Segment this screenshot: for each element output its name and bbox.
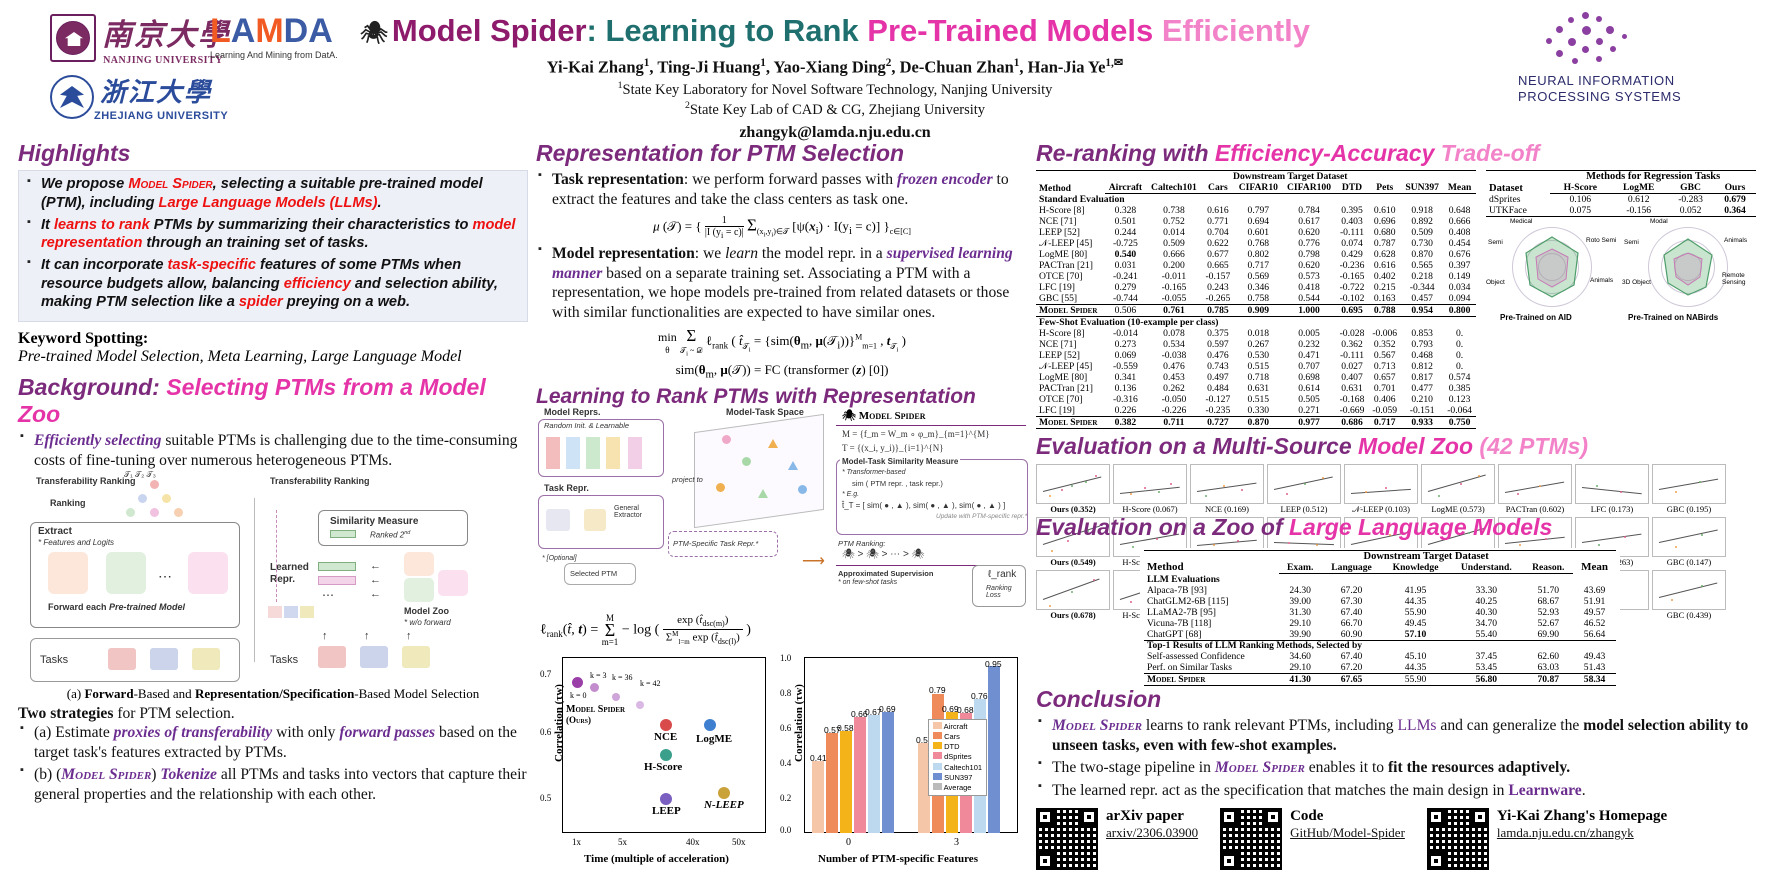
cell: 0.648 <box>1443 205 1476 216</box>
cell: 0.385 <box>1443 383 1476 394</box>
hl-1-a: We propose <box>41 176 128 192</box>
cell: 0.752 <box>1146 216 1201 227</box>
cell: 0.123 <box>1443 394 1476 405</box>
poster-header: 南京大學 NANJING UNIVERSITY LAMDA Learning A… <box>0 0 1780 140</box>
cell: 0.597 <box>1202 339 1235 350</box>
radar2-axis-remote: Remote Sensing <box>1722 273 1752 286</box>
cell: 31.30 <box>1279 607 1321 618</box>
qr-arxiv[interactable]: arXiv paper arxiv/2306.03900 <box>1036 808 1198 870</box>
cell-method: OTCE [70] <box>1036 394 1105 405</box>
cell: 44.35 <box>1382 662 1449 674</box>
cell: 0.601 <box>1234 227 1282 238</box>
table-llm-eval: Method Downstream Target Dataset Mean Ex… <box>1144 550 1616 686</box>
col-cifar100: CIFAR100 <box>1282 182 1335 194</box>
title-part-2: Learning to Rank <box>605 13 867 48</box>
cell: 0.743 <box>1202 361 1235 372</box>
cell: 0.680 <box>1368 227 1401 238</box>
arxiv-url[interactable]: arxiv/2306.03900 <box>1106 825 1198 841</box>
cell: 0.870 <box>1234 417 1282 429</box>
cell: 51.70 <box>1523 585 1573 596</box>
bars-ytick-4: 0.8 <box>780 688 791 698</box>
cell-mean: 51.91 <box>1573 596 1616 607</box>
cell: 0.620 <box>1282 260 1335 271</box>
col-knowledge: Knowledge <box>1382 562 1449 574</box>
cell: 0.776 <box>1282 238 1335 249</box>
fig-modelzoo-label: Model Zoo <box>404 606 449 616</box>
legend-label-sun397: SUN397 <box>944 773 972 782</box>
cell: 0.052 <box>1667 205 1714 217</box>
cell: 0.698 <box>1282 372 1335 383</box>
cell: 0.785 <box>1202 305 1235 317</box>
cell: 0.788 <box>1368 305 1401 317</box>
model-repr-head: Model representation <box>552 245 695 262</box>
table-row: LEEP [52]0.069-0.0380.4760.5300.471-0.11… <box>1036 350 1476 361</box>
cell: 63.03 <box>1523 662 1573 674</box>
list-item: Task representation: we perform forward … <box>536 170 1028 209</box>
cell: 0.346 <box>1234 282 1282 293</box>
cell-method: OTCE [70] <box>1036 271 1105 282</box>
section-highlights-heading: Highlights <box>18 140 528 166</box>
cell: 0.567 <box>1368 350 1401 361</box>
radar-axis-animals: Animals <box>1590 277 1613 284</box>
cell: 0.074 <box>1336 238 1369 249</box>
cell: 0.761 <box>1146 305 1201 317</box>
spider-icon: 🕷 <box>360 20 388 45</box>
formula-sim-fc: sim(θm, μ(𝒯)) = FC (transformer (z) [0]) <box>536 362 1028 381</box>
cell: 0.069 <box>1105 350 1147 361</box>
cell: 0.530 <box>1234 350 1282 361</box>
arxiv-qr-icon[interactable] <box>1036 808 1098 870</box>
scatter-ylabel: Correlation (τw) <box>553 684 565 762</box>
cell: 0.701 <box>1368 383 1401 394</box>
fig-right-title: Transferability Ranking <box>270 476 370 486</box>
cell-method: 𝒩-LEEP [45] <box>1036 238 1105 249</box>
cell: 0.362 <box>1336 339 1369 350</box>
cell-method: Model Spider <box>1036 417 1105 429</box>
lamda-tagline: Learning And Mining from DatA. <box>210 50 338 60</box>
col-exam: Exam. <box>1279 562 1321 574</box>
table-row: LFC [19]0.279-0.1650.2430.3460.418-0.722… <box>1036 282 1476 293</box>
cell: 0.352 <box>1368 339 1401 350</box>
multisource-scatter-matrix: Ours (0.352) H-Score (0.067) NCE (0.169)… <box>1036 464 1756 640</box>
task-repr-head: Task representation <box>552 171 684 188</box>
two-strategies-head: Two strategies <box>18 705 113 722</box>
neurips-dots-icon <box>1538 12 1634 70</box>
cell: 0.711 <box>1146 417 1201 429</box>
qr-homepage[interactable]: Yi-Kai Zhang's Homepage lamda.nju.edu.cn… <box>1427 808 1667 870</box>
homepage-url[interactable]: lamda.nju.edu.cn/zhangyk <box>1497 825 1667 841</box>
figure-caption-a: (a) Forward-Based and Representation/Spe… <box>18 686 528 702</box>
legend-item: Average <box>933 783 982 793</box>
table-row: ChatGPT [68]39.9060.9057.1055.4069.9056.… <box>1144 629 1616 641</box>
brand-text: Model Spider <box>859 410 926 422</box>
cell: 0.617 <box>1282 216 1335 227</box>
cell: 67.40 <box>1321 607 1382 618</box>
formula-task-representation: μ (𝒯) = { 1 |I (yi = c)| Σ(xi,yi)∈𝒯 [ψ(x… <box>536 215 1028 240</box>
cell: 0.631 <box>1336 383 1369 394</box>
cell: -0.059 <box>1368 405 1401 417</box>
table-row-best: Model Spider41.3067.6555.9056.8070.8758.… <box>1144 673 1616 685</box>
affiliation-1-text: State Key Laboratory for Novel Software … <box>623 81 1053 97</box>
approx-sub-label: * on few-shot tasks <box>838 579 897 586</box>
fig-extract-label: Extract <box>38 526 72 537</box>
col-pets: Pets <box>1368 182 1401 194</box>
cell-method: ChatGPT [68] <box>1144 629 1279 641</box>
section-multisource-heading: Evaluation on a Multi-Source Model Zoo (… <box>1036 433 1766 459</box>
cell: 0.614 <box>1282 383 1335 394</box>
cell: 44.35 <box>1382 596 1449 607</box>
cell: 0.509 <box>1401 227 1443 238</box>
cell: 0.402 <box>1368 271 1401 282</box>
cell: -0.064 <box>1443 405 1476 417</box>
cell: 0.622 <box>1202 238 1235 249</box>
cell: 0. <box>1443 339 1476 350</box>
nju-seal-icon <box>50 14 96 62</box>
qr-code[interactable]: Code GitHub/Model-Spider <box>1220 808 1405 870</box>
list-item: (b) (Model Spider) Tokenize all PTMs and… <box>18 765 528 804</box>
fig-ranked-label: Ranked 2nd <box>370 530 410 540</box>
cell: 0.738 <box>1146 205 1201 216</box>
general-extractor-label: General Extractor <box>614 505 660 520</box>
code-url[interactable]: GitHub/Model-Spider <box>1290 825 1405 841</box>
t-definition: T = {(x_i, y_i)}_{i=1}^{N} <box>842 443 944 453</box>
big-arrow-icon: ⟶ <box>802 551 825 571</box>
cell: 0.163 <box>1368 293 1401 305</box>
list-item: It can incorporate task-specific feature… <box>25 256 521 312</box>
cell-mean: 56.64 <box>1573 629 1616 641</box>
k-label-0: k = 0 <box>570 691 587 700</box>
list-item: The two-stage pipeline in Model Spider e… <box>1036 758 1756 777</box>
cell: 0.397 <box>1443 260 1476 271</box>
section-llm-heading: Evaluation on a Zoo of Large Language Mo… <box>1036 514 1766 540</box>
cell: 0.771 <box>1202 216 1235 227</box>
cell: 0.429 <box>1336 249 1369 260</box>
cell: 0.226 <box>1105 405 1147 417</box>
cell: 0.730 <box>1401 238 1443 249</box>
lrank-symbol: ℓ_rank <box>988 569 1016 580</box>
scatter-cap-gbc-3: GBC (0.439) <box>1652 610 1726 620</box>
representation-bullets-1: Task representation: we perform forward … <box>536 170 1028 209</box>
m-definition: M = {f_m = W_m ∘ φ_m}_{m=1}^{M} <box>842 429 990 440</box>
cell: 0.892 <box>1401 216 1443 227</box>
cell: 0.713 <box>1368 361 1401 372</box>
cell: 0.457 <box>1401 293 1443 305</box>
cell: 0.018 <box>1234 328 1282 339</box>
cell: 55.40 <box>1449 629 1523 641</box>
cell: -0.168 <box>1336 394 1369 405</box>
radar-axis-semi: Semi <box>1488 239 1503 246</box>
fig-ellipsis-1: ⋯ <box>158 568 174 585</box>
fig-up-arrow-3: ↑ <box>406 630 412 642</box>
cell-dataset: dSprites <box>1486 194 1550 206</box>
radar-row: Medical Roto Semi Animals Object Semi Pr… <box>1486 223 1756 333</box>
cell-method: LLaMA2-7B [95] <box>1144 607 1279 618</box>
conclusion-list: Model Spider learns to rank relevant PTM… <box>1036 716 1756 800</box>
table-row: Standard Evaluation <box>1036 194 1476 206</box>
scatter-cap-lfc-1: LFC (0.173) <box>1575 504 1649 514</box>
legend-label-aircraft: Aircraft <box>944 722 968 731</box>
col-cifar10: CIFAR10 <box>1234 182 1282 194</box>
cell-method: LFC [19] <box>1036 405 1105 417</box>
cell: 0.918 <box>1401 205 1443 216</box>
cell: 0.620 <box>1282 227 1335 238</box>
rr-h2: Efficiency-Accuracy <box>1215 140 1441 166</box>
cell: 0.565 <box>1401 260 1443 271</box>
scatter-cap-hscore-1: H-Score (0.067) <box>1113 504 1187 514</box>
update-with-label: Update with PTM-specific repr.* <box>936 513 1027 520</box>
cell: -0.283 <box>1667 194 1714 206</box>
cell: 0.704 <box>1202 227 1235 238</box>
cell: 0.244 <box>1105 227 1147 238</box>
table-row: 𝒩-LEEP [45]-0.5590.4760.7430.5150.7070.0… <box>1036 361 1476 372</box>
col-method: Method <box>1036 171 1105 194</box>
cell: 0.574 <box>1443 372 1476 383</box>
cell: 0.544 <box>1282 293 1335 305</box>
cell: 0.787 <box>1368 238 1401 249</box>
cell: 52.93 <box>1523 607 1573 618</box>
hl-2-c: PTMs by summarizing their characteristic… <box>150 217 473 233</box>
cell: -0.559 <box>1105 361 1147 372</box>
radar-chart-nabirds: Modal Animals Remote Sensing 3D Object S… <box>1622 223 1754 333</box>
llm-h2: Large Language Models <box>1289 514 1552 540</box>
fig-ellipsis-2: ⋯ <box>322 588 334 602</box>
cell: -0.014 <box>1105 328 1147 339</box>
legend-label-dsprites: dSprites <box>944 752 972 761</box>
list-item: (a) Estimate proxies of transferability … <box>18 723 528 762</box>
cell: 0.677 <box>1202 249 1235 260</box>
cell: 0.686 <box>1336 417 1369 429</box>
hl-3-d: efficiency <box>284 276 351 292</box>
cell: -0.157 <box>1202 271 1235 282</box>
col-cars: Cars <box>1202 182 1235 194</box>
section-ltr-heading: Learning to Rank PTMs with Representatio… <box>536 385 1028 409</box>
cell: 60.90 <box>1321 629 1382 641</box>
cell: 0.534 <box>1146 339 1201 350</box>
table-row: NCE [71]0.2730.5340.5970.2670.2320.3620.… <box>1036 339 1476 350</box>
cell: 0.279 <box>1105 282 1147 293</box>
homepage-qr-icon[interactable] <box>1427 808 1489 870</box>
lamda-letter-m: M <box>255 12 283 50</box>
formula-rank-loss: ℓrank(t̂, t) = M Σ m=1 − log ( exp (t̂ds… <box>540 613 1028 647</box>
column-right: Re-ranking with Efficiency-Accuracy Trad… <box>1036 140 1766 870</box>
cell: 55.90 <box>1382 607 1449 618</box>
section-background-heading: Background: Selecting PTMs from a Model … <box>18 374 528 427</box>
ms-h1: Evaluation on a Multi-Source <box>1036 433 1358 459</box>
highlights-box: We propose Model Spider, selecting a sui… <box>18 170 528 322</box>
affiliation-2-text: State Key Lab of CAD & CG, Zhejiang Univ… <box>690 102 985 118</box>
title-part-4: Efficiently <box>1162 13 1310 48</box>
cell-method: Vicuna-7B [118] <box>1144 618 1279 629</box>
bars-xtick-0: 0 <box>846 837 851 848</box>
rr-h1: Re-ranking with <box>1036 140 1215 166</box>
cell: 0.328 <box>1105 205 1147 216</box>
hl-1-e: . <box>377 195 381 211</box>
scatter-cap-logme-1: LogME (0.573) <box>1421 504 1495 514</box>
cell: -0.725 <box>1105 238 1147 249</box>
bars-xtick-1: 3 <box>954 837 959 848</box>
qr-links-row: arXiv paper arxiv/2306.03900 Code GitHub… <box>1036 808 1766 870</box>
cell: 0.870 <box>1401 249 1443 260</box>
scatter-cap-ours-2: Ours (0.549) <box>1036 557 1110 567</box>
legend-label-cars: Cars <box>944 732 960 741</box>
hl-3-b: task-specific <box>168 257 256 273</box>
charts-row: Correlation (τw) 0.7 0.6 0.5 1x 5x 40x 5… <box>536 653 1028 887</box>
cell-mean: 58.34 <box>1573 673 1616 685</box>
optional-label: * [Optional] <box>542 555 577 562</box>
cell: 0.364 <box>1714 205 1756 217</box>
cell: 0.657 <box>1368 372 1401 383</box>
cell: 0.793 <box>1401 339 1443 350</box>
table-row: H-Score [8]0.3280.7380.6160.7970.7840.39… <box>1036 205 1476 216</box>
table-row: OTCE [70]-0.241-0.011-0.1570.5690.573-0.… <box>1036 271 1476 282</box>
figure-pipeline: Model Reprs. Random Init. & Learnable Ta… <box>536 413 1028 611</box>
table-row: PACTran [21]0.0310.2000.6650.7170.620-0.… <box>1036 260 1476 271</box>
table-llm-wrapper: Method Downstream Target Dataset Mean Ex… <box>1140 548 1620 688</box>
two-strategies-line: Two strategies for PTM selection. <box>18 704 528 723</box>
col-caltech101: Caltech101 <box>1146 182 1201 194</box>
table-row: dSprites0.1060.612-0.2830.679 <box>1486 194 1756 206</box>
cell: 0.215 <box>1368 282 1401 293</box>
cell: 0.106 <box>1550 194 1610 206</box>
cell: 0.628 <box>1368 249 1401 260</box>
bar-label-3-3: 0.68 <box>957 705 974 715</box>
cell: 0.679 <box>1714 194 1756 206</box>
cell-mean: 49.57 <box>1573 607 1616 618</box>
cell-method: Alpaca-7B [93] <box>1144 585 1279 596</box>
radar-chart-aid: Medical Roto Semi Animals Object Semi Pr… <box>1486 223 1618 333</box>
figure-model-selection: Transferability Ranking Ranking 𝒯₁ 𝒯₂ 𝒯₃ <box>18 474 528 702</box>
fig-up-arrow-2: ↑ <box>364 630 370 642</box>
cell: 0.798 <box>1282 249 1335 260</box>
model-reprs-label: Model Reprs. <box>544 407 601 417</box>
representation-bullets-2: Model representation: we learn the model… <box>536 244 1028 322</box>
scatter-cell-gbc-3: GBC (0.439) <box>1652 570 1726 620</box>
cell-method: Self-assessed Confidence <box>1144 651 1279 662</box>
table-row: Dataset Methods for Regression Tasks <box>1486 171 1756 183</box>
cell: 0.454 <box>1443 238 1476 249</box>
lamda-wordmark: LAMDA <box>210 14 338 48</box>
code-qr-icon[interactable] <box>1220 808 1282 870</box>
keyword-spotting-body: Pre-trained Model Selection, Meta Learni… <box>18 348 528 366</box>
cell: 0.509 <box>1146 238 1201 249</box>
scatter-cell-pactran-1: PACTran (0.602) <box>1498 464 1572 515</box>
scatter-cap-ours-3: Ours (0.678) <box>1036 610 1110 620</box>
cell: 0.476 <box>1146 361 1201 372</box>
cell: 0.573 <box>1282 271 1335 282</box>
ptm-ranking-label: PTM Ranking: <box>838 539 886 548</box>
cell: -0.006 <box>1368 328 1401 339</box>
poster-root: 南京大學 NANJING UNIVERSITY LAMDA Learning A… <box>0 0 1780 890</box>
table-row: LFC [19]0.226-0.226-0.2350.3300.271-0.66… <box>1036 405 1476 417</box>
cell: 0.506 <box>1105 305 1147 317</box>
radar-axis-roto: Roto Semi <box>1586 237 1616 244</box>
table-row: H-Score [8]-0.0140.0780.3750.0180.005-0.… <box>1036 328 1476 339</box>
cell: 33.30 <box>1449 585 1523 596</box>
cell-method: GBC [55] <box>1036 293 1105 305</box>
col-ours: Ours <box>1714 182 1756 194</box>
col-reason: Reason. <box>1523 562 1573 574</box>
radar2-axis-semi: Semi <box>1624 239 1639 246</box>
cell: 0.497 <box>1202 372 1235 383</box>
cell: -0.038 <box>1146 350 1201 361</box>
col-language: Language <box>1321 562 1382 574</box>
cell: 34.60 <box>1279 651 1321 662</box>
highlights-list: We propose Model Spider, selecting a sui… <box>25 175 521 312</box>
cell: 0.375 <box>1202 328 1235 339</box>
scatter-cell-leep-1: LEEP (0.512) <box>1267 464 1341 515</box>
scatter-label-leep: LEEP <box>652 805 681 817</box>
col-sun397: SUN397 <box>1401 182 1443 194</box>
rr-h3: Trade-off <box>1441 140 1540 166</box>
cell: 69.90 <box>1523 629 1573 641</box>
bars-xlabel: Number of PTM-specific Features <box>818 853 978 865</box>
background-bullets: Efficiently selecting suitable PTMs is c… <box>18 431 528 470</box>
scatter-xtick-0: 1x <box>572 837 581 847</box>
cell: 0.800 <box>1443 305 1476 317</box>
scatter-label-logme: LogME <box>696 733 732 745</box>
cell: 40.30 <box>1449 607 1523 618</box>
scatter-cell-nce-1: NCE (0.169) <box>1190 464 1264 515</box>
cell: 29.10 <box>1279 618 1321 629</box>
fig-tasks-label-right: Tasks <box>270 654 298 666</box>
cell: 0.273 <box>1105 339 1147 350</box>
cell: 0.330 <box>1234 405 1282 417</box>
cell: 0.407 <box>1336 372 1369 383</box>
cell: 0.453 <box>1146 372 1201 383</box>
scatter-xtick-2: 40x <box>686 837 700 847</box>
list-item: Model representation: we learn the model… <box>536 244 1028 322</box>
col-hscore: H-Score <box>1550 182 1610 194</box>
cell: 0. <box>1443 350 1476 361</box>
cell: 0.484 <box>1202 383 1235 394</box>
cell: -0.165 <box>1146 282 1201 293</box>
cell: -0.102 <box>1336 293 1369 305</box>
cell: -0.011 <box>1146 271 1201 282</box>
hl-3-g: preying on a web. <box>283 294 410 310</box>
col-logme: LogME <box>1610 182 1667 194</box>
hl-3-a: It can incorporate <box>41 257 168 273</box>
table-row: PACTran [21]0.1360.2620.4840.6310.6140.6… <box>1036 383 1476 394</box>
homepage-label: Yi-Kai Zhang's Homepage <box>1497 808 1667 825</box>
fig-arrow-3: ← <box>370 588 381 600</box>
cell: -0.156 <box>1610 205 1667 217</box>
cell: 0.933 <box>1401 417 1443 429</box>
section-llm-eval: LLM Evaluations <box>1144 573 1616 585</box>
cell-mean: 43.69 <box>1573 585 1616 596</box>
cell: 0.094 <box>1443 293 1476 305</box>
cell: 0.717 <box>1234 260 1282 271</box>
legend-item: Cars <box>933 732 982 742</box>
title-colon: : <box>587 13 606 48</box>
table-main-wrapper: Method Downstream Target Dataset Aircraf… <box>1036 170 1476 429</box>
section-standard: Standard Evaluation <box>1036 194 1476 206</box>
scatter-xtick-1: 5x <box>618 837 627 847</box>
cell: 0.909 <box>1234 305 1282 317</box>
cell: 0.727 <box>1202 417 1235 429</box>
cell: 0.631 <box>1234 383 1282 394</box>
table-row: LogME [80]0.5400.6660.6770.8020.7980.429… <box>1036 249 1476 260</box>
cell: 0.616 <box>1202 205 1235 216</box>
fig-arrow-2: ← <box>370 574 381 586</box>
table-row: LLaMA2-7B [95]31.3067.4055.9040.3052.934… <box>1144 607 1616 618</box>
cell: 0.476 <box>1202 350 1235 361</box>
cell-method: NCE [71] <box>1036 339 1105 350</box>
cell: 0.707 <box>1282 361 1335 372</box>
chart-efficiency-scatter: Correlation (τw) 0.7 0.6 0.5 1x 5x 40x 5… <box>536 653 772 883</box>
hl-2-e: through an training set of tasks. <box>142 235 368 251</box>
scatter-cell-gbc-1: GBC (0.195) <box>1652 464 1726 515</box>
title-part-3: Pre-Trained Models <box>867 13 1162 48</box>
